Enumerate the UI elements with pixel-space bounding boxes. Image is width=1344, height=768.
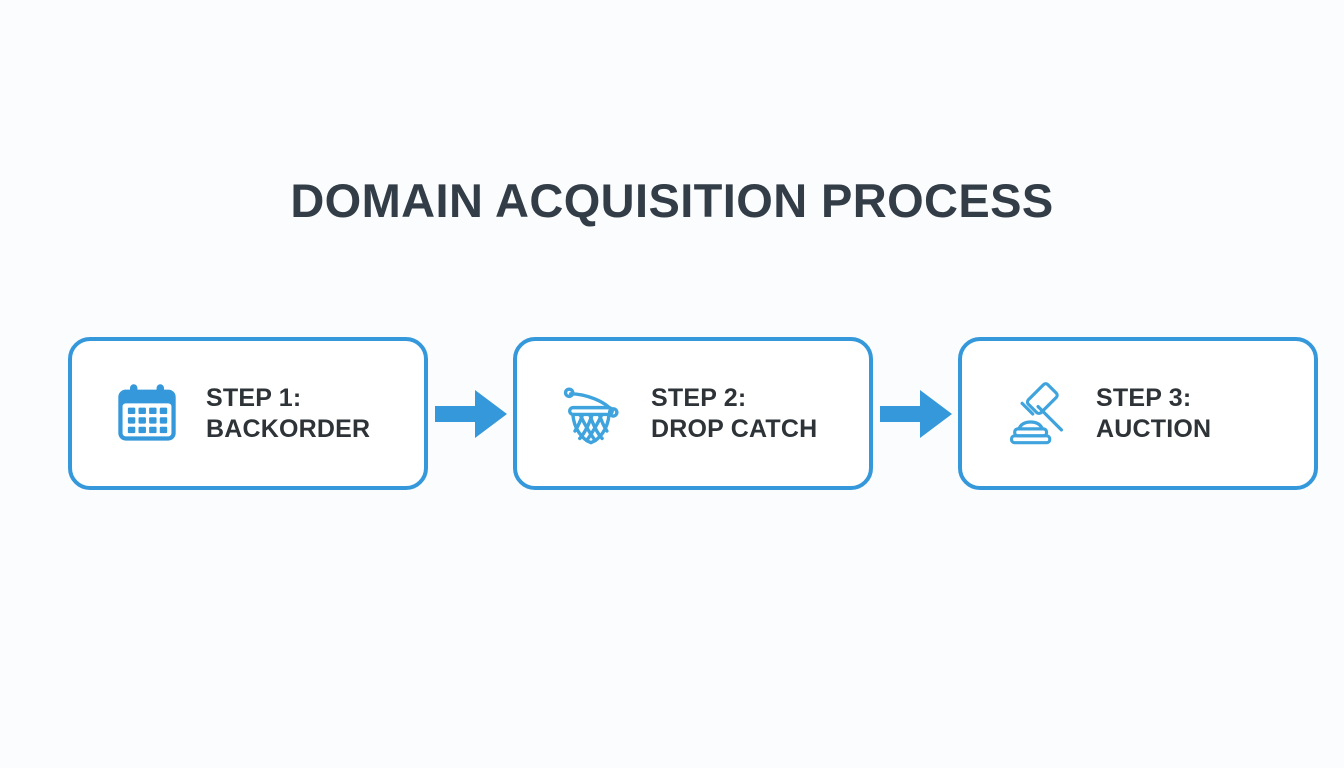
step-card-2-label: STEP 2: DROP CATCH <box>651 383 869 444</box>
page-title: DOMAIN ACQUISITION PROCESS <box>0 176 1344 225</box>
gavel-icon <box>994 371 1080 457</box>
step-card-3[interactable]: STEP 3: AUCTION <box>958 337 1318 490</box>
slide-canvas: DOMAIN ACQUISITION PROCESS <box>0 0 1344 768</box>
step-card-3-line1: STEP 3: <box>1096 383 1314 414</box>
step-card-1[interactable]: STEP 1: BACKORDER <box>68 337 428 490</box>
arrow-right-icon <box>435 386 507 442</box>
step-card-1-label: STEP 1: BACKORDER <box>206 383 424 444</box>
arrow-right-icon <box>880 386 952 442</box>
calendar-icon <box>104 371 190 457</box>
step-card-1-line2: BACKORDER <box>206 414 424 445</box>
step-card-3-line2: AUCTION <box>1096 414 1314 445</box>
step-card-2-line2: DROP CATCH <box>651 414 869 445</box>
step-card-2-line1: STEP 2: <box>651 383 869 414</box>
step-card-2[interactable]: STEP 2: DROP CATCH <box>513 337 873 490</box>
connector-2 <box>873 384 958 444</box>
step-card-3-label: STEP 3: AUCTION <box>1096 383 1314 444</box>
process-flow: STEP 1: BACKORDER <box>68 337 1278 490</box>
net-icon <box>549 371 635 457</box>
step-card-1-line1: STEP 1: <box>206 383 424 414</box>
connector-1 <box>428 384 513 444</box>
